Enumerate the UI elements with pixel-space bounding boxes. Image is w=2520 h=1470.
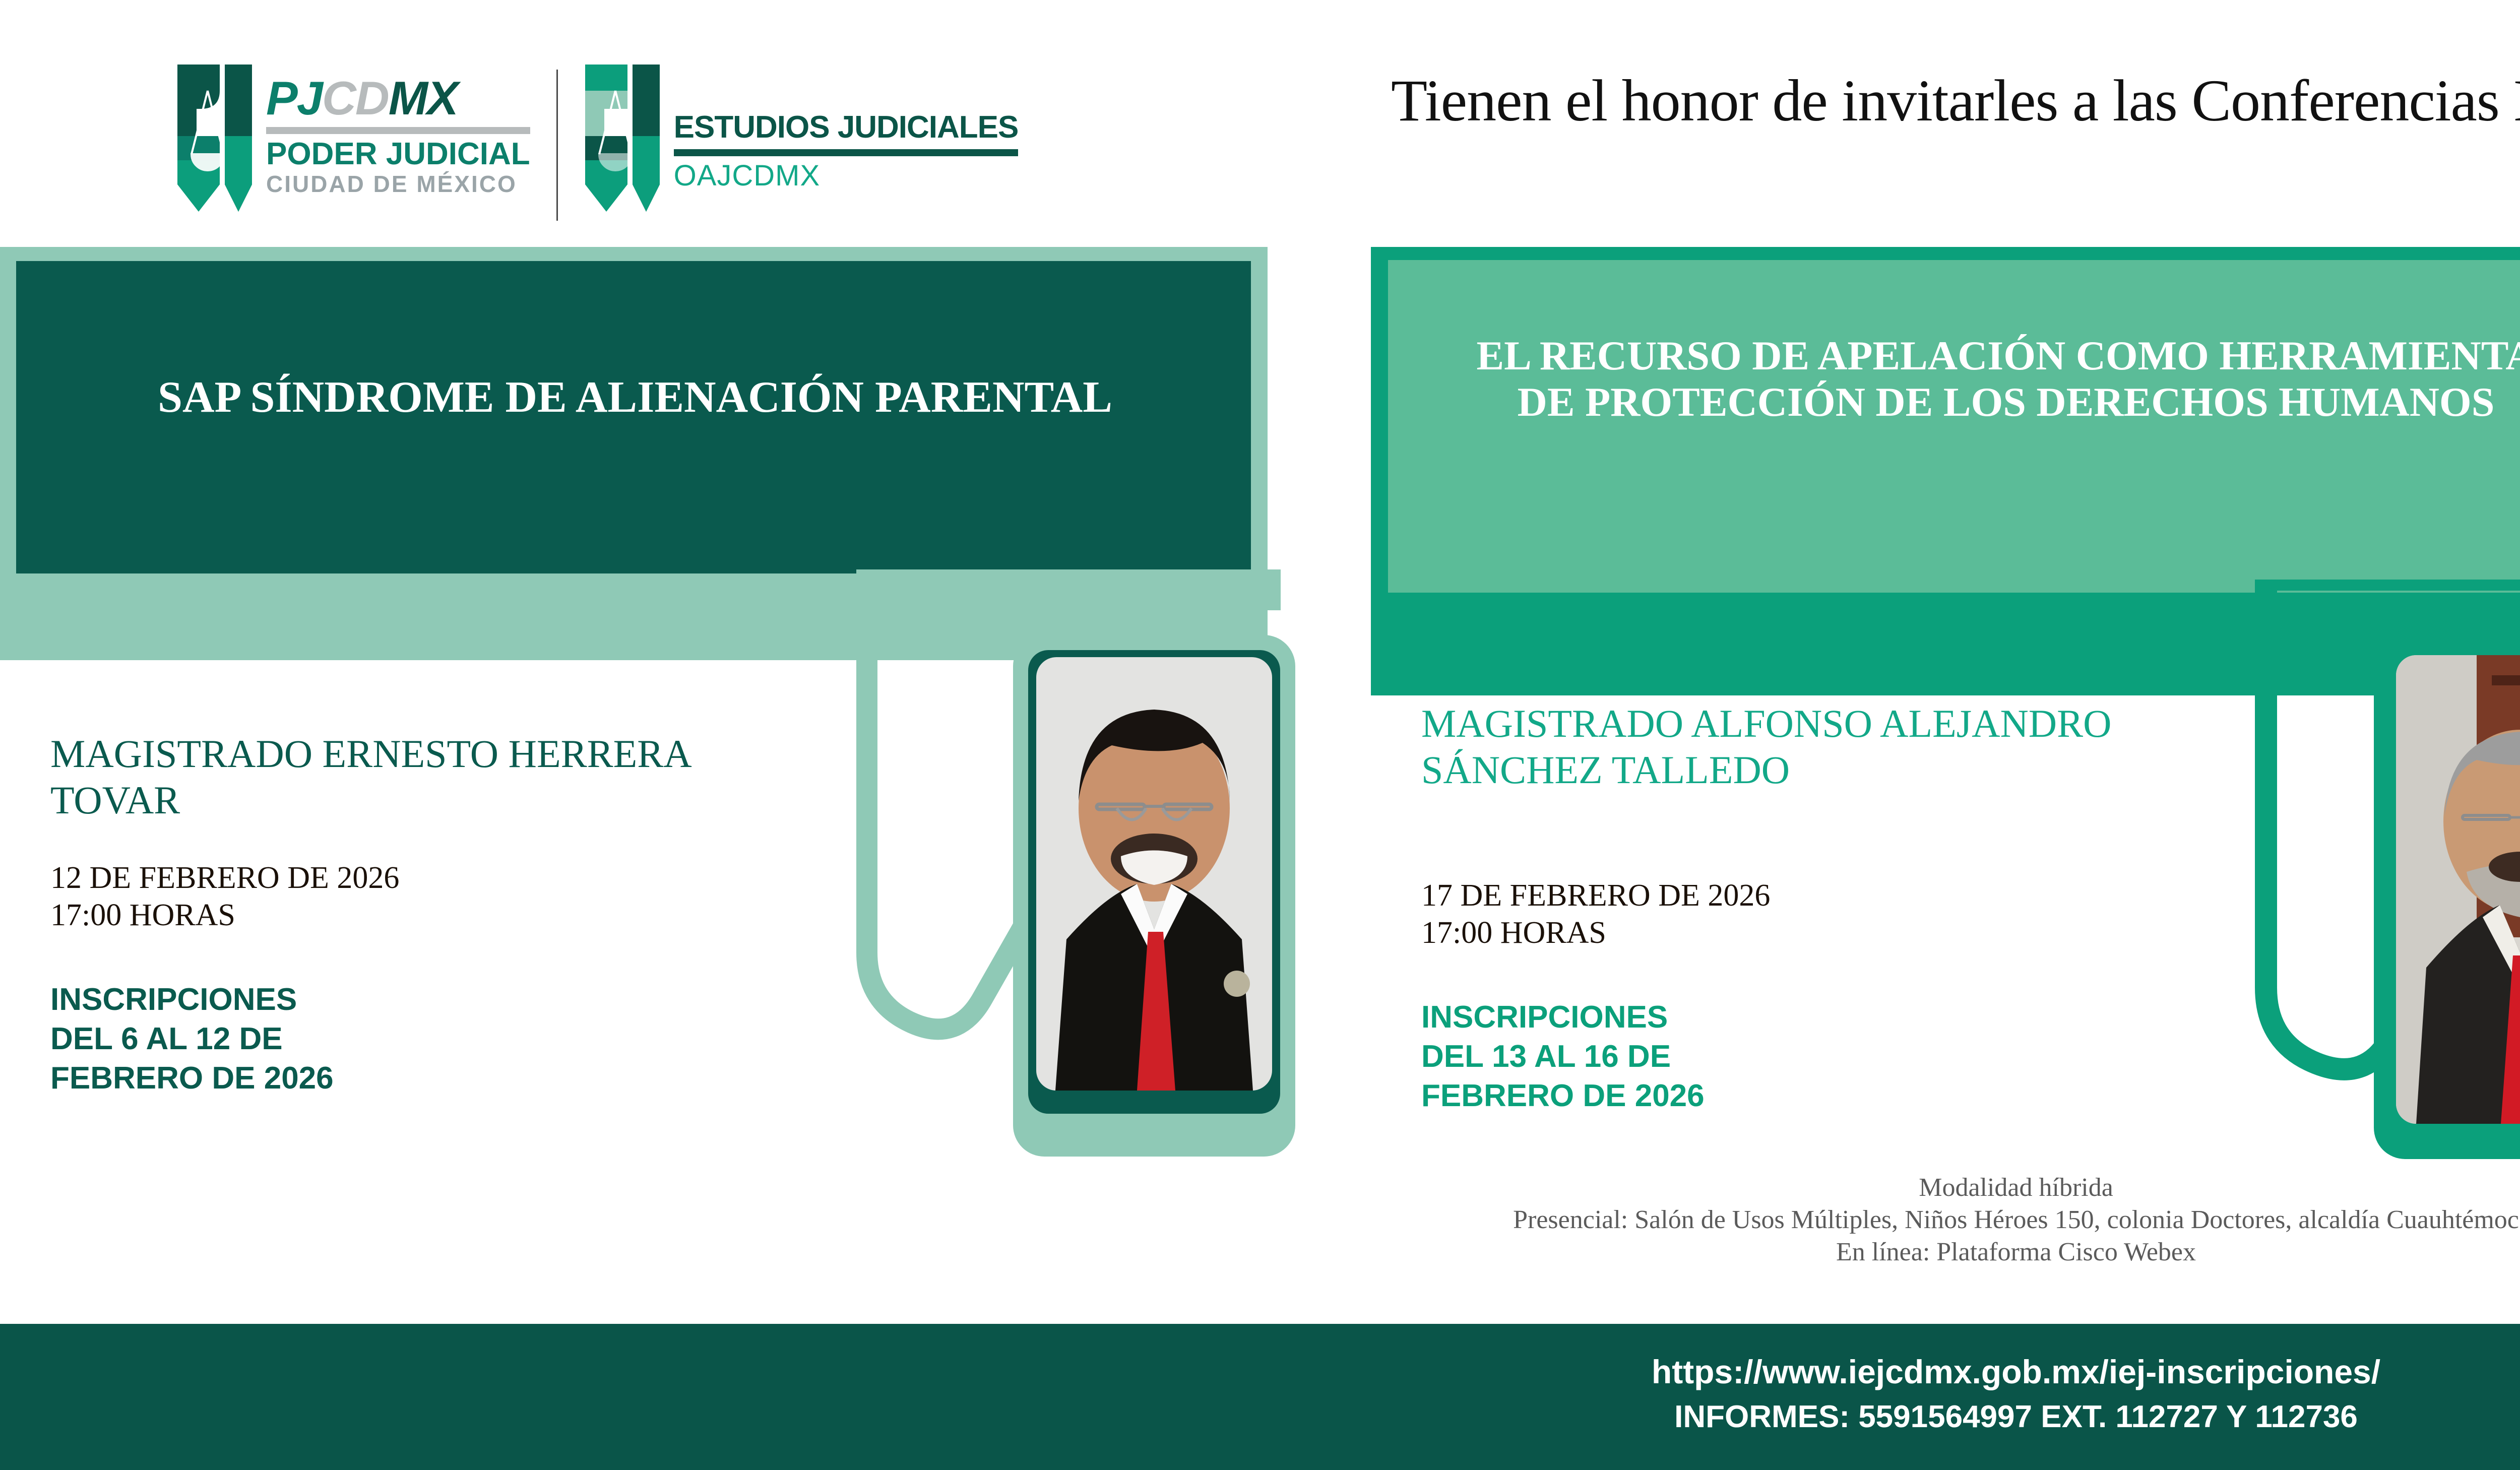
logo-vertical-separator [556,70,558,221]
card-1-speaker: MAGISTRADO ERNESTO HERRERA TOVAR [50,731,756,823]
card-1-time: 17:00 HORAS [50,897,235,934]
logo-divider-rule-dark [674,149,1019,156]
logo-area: PJCDMX PODER JUDICIAL CIUDAD DE MÉXICO [176,60,1018,227]
logo-estudios-judiciales-label: ESTUDIOS JUDICIALES [674,111,1019,144]
card-2-portrait-image [2396,655,2520,1124]
footer-bar: https://www.iejcdmx.gob.mx/iej-inscripci… [0,1324,2520,1470]
logo-poder-judicial-text: PJCDMX PODER JUDICIAL CIUDAD DE MÉXICO [266,60,530,198]
scales-of-justice-emblem [176,60,257,227]
conference-card-2: EL RECURSO DE APELACIÓN COMO HERRAMIENTA… [1371,247,2520,1169]
card-1-date: 12 DE FEBRERO DE 2026 [50,859,399,897]
logo-ciudad-de-mexico-label: CIUDAD DE MÉXICO [266,170,530,198]
card-2-title: EL RECURSO DE APELACIÓN COMO HERRAMIENTA… [1396,333,2520,425]
card-2-inscriptions-range-2: FEBRERO DE 2026 [1421,1076,1705,1116]
card-1-portrait-image [1036,657,1272,1091]
card-1-title: SAP SÍNDROME DE ALIENACIÓN PARENTAL [30,373,1240,423]
card-2-date: 17 DE FEBRERO DE 2026 [1421,877,1770,914]
card-1-portrait [1013,635,1295,1157]
card-2-speaker: MAGISTRADO ALFONSO ALEJANDRO SÁNCHEZ TAL… [1421,700,2127,793]
card-2-portrait [2374,635,2520,1159]
logo-poder-judicial-label: PODER JUDICIAL [266,138,530,170]
card-2-time: 17:00 HORAS [1421,914,1606,951]
logo-estudios-judiciales: ESTUDIOS JUDICIALES OAJCDMX [584,60,1019,227]
card-1-inscriptions-range-1: DEL 6 AL 12 DE [50,1019,283,1059]
card-1-title-line-1: SAP SÍNDROME DE ALIENACIÓN PARENTAL [158,373,1112,422]
modalidad-line-1: Modalidad híbrida [0,1172,2520,1204]
logo-estudios-judiciales-text: ESTUDIOS JUDICIALES OAJCDMX [674,60,1019,191]
modalidad-line-2: Presencial: Salón de Usos Múltiples, Niñ… [0,1204,2520,1236]
scales-of-justice-emblem-secondary [584,60,665,227]
card-2-portrait-photo-clip [2396,655,2520,1124]
card-2-banner-fill [1388,260,2520,593]
modalidad-line-3: En línea: Plataforma Cisco Webex [0,1236,2520,1268]
logo-oajcdmx-label: OAJCDMX [674,160,1019,191]
registration-url[interactable]: https://www.iejcdmx.gob.mx/iej-inscripci… [0,1324,2520,1391]
page-header: PJCDMX PODER JUDICIAL CIUDAD DE MÉXICO [0,0,2520,237]
logo-divider-rule [266,127,530,134]
card-1-inscriptions-label: INSCRIPCIONES [50,980,297,1019]
card-2-inscriptions-range-1: DEL 13 AL 16 DE [1421,1037,1671,1076]
logo-poder-judicial: PJCDMX PODER JUDICIAL CIUDAD DE MÉXICO [176,60,530,227]
contact-info: INFORMES: 5591564997 EXT. 112727 Y 11273… [0,1391,2520,1436]
card-1-portrait-photo-clip [1036,657,1272,1091]
card-2-title-line-1: EL RECURSO DE APELACIÓN COMO HERRAMIENTA [1476,333,2520,378]
card-2-title-line-2: DE PROTECCIÓN DE LOS DERECHOS HUMANOS [1518,379,2495,425]
logo-pjcdmx-wordmark: PJCDMX [266,75,530,122]
page-title: Tienen el honor de invitarles a las Conf… [1391,71,2520,131]
conference-card-1: SAP SÍNDROME DE ALIENACIÓN PARENTAL MAGI… [0,247,1300,1169]
card-2-inscriptions-label: INSCRIPCIONES [1421,998,1668,1037]
card-1-inscriptions-range-2: FEBRERO DE 2026 [50,1059,334,1098]
modalidad-block: Modalidad híbrida Presencial: Salón de U… [0,1172,2520,1268]
